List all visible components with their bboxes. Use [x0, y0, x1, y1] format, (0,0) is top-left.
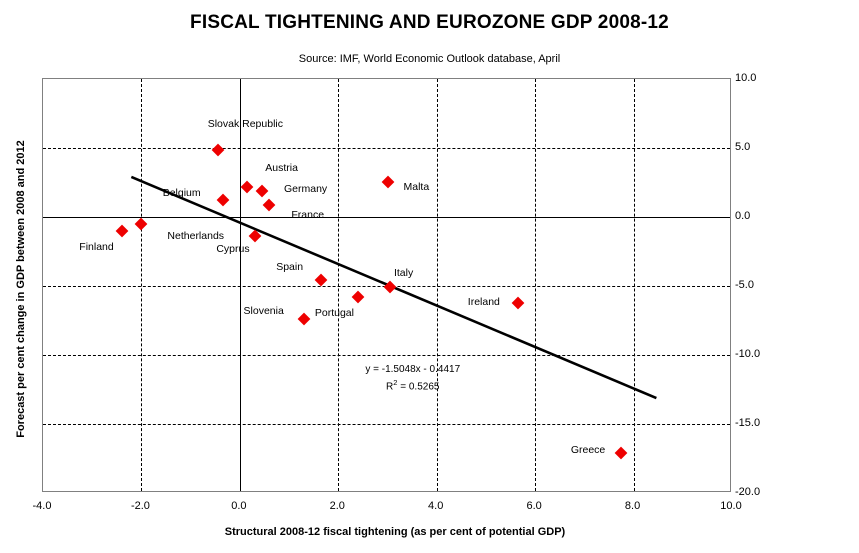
r-squared-value: = 0.5265: [397, 382, 439, 393]
y-axis-tick-label: 5.0: [735, 141, 750, 153]
chart-root: FISCAL TIGHTENING AND EUROZONE GDP 2008-…: [0, 0, 859, 553]
data-point-marker: [263, 199, 276, 212]
y-axis-tick-label: -15.0: [735, 417, 760, 429]
data-point-label: Spain: [276, 261, 303, 273]
data-point-marker: [248, 230, 261, 243]
data-point-label: Malta: [404, 181, 430, 193]
x-axis-tick-label: 10.0: [720, 500, 741, 512]
gridline-vertical: [338, 79, 339, 491]
data-point-label: Austria: [265, 162, 298, 174]
regression-equation-annotation: y = -1.5048x - 0.4417R2 = 0.5265: [365, 363, 460, 393]
data-point-label: Slovak Republic: [208, 118, 283, 130]
data-point-marker: [135, 218, 148, 231]
chart-source-note: Source: IMF, World Economic Outlook data…: [0, 53, 859, 65]
y-axis-tick-label: -10.0: [735, 348, 760, 360]
x-axis-title: Structural 2008-12 fiscal tightening (as…: [0, 526, 790, 538]
gridline-vertical: [535, 79, 536, 491]
data-point-marker: [352, 291, 365, 304]
data-point-marker: [615, 447, 628, 460]
y-axis-tick-label: 0.0: [735, 210, 750, 222]
data-point-marker: [384, 281, 397, 294]
r-squared-line: R2 = 0.5265: [365, 376, 460, 393]
data-point-marker: [256, 185, 269, 198]
data-point-label: Portugal: [315, 307, 354, 319]
x-axis-tick-label: -4.0: [33, 500, 52, 512]
data-point-label: Italy: [394, 267, 413, 279]
data-point-label: Ireland: [468, 296, 500, 308]
gridline-vertical: [141, 79, 142, 491]
data-point-marker: [211, 144, 224, 157]
plot-area: Slovak RepublicAustriaGermanyBelgiumFran…: [42, 78, 731, 492]
y-axis-tick-label: -20.0: [735, 486, 760, 498]
data-point-marker: [115, 224, 128, 237]
gridline-vertical: [634, 79, 635, 491]
data-point-label: Netherlands: [167, 230, 224, 242]
data-point-label: Finland: [79, 241, 113, 253]
x-axis-tick-label: 4.0: [428, 500, 443, 512]
data-point-marker: [512, 296, 525, 309]
data-point-marker: [315, 274, 328, 287]
y-axis-tick-label: 10.0: [735, 72, 756, 84]
x-axis-tick-label: 2.0: [330, 500, 345, 512]
data-point-marker: [216, 194, 229, 207]
x-axis-tick-label: -2.0: [131, 500, 150, 512]
y-axis-tick-label: -5.0: [735, 279, 754, 291]
data-point-label: Slovenia: [244, 305, 284, 317]
data-point-marker: [297, 313, 310, 326]
gridline-horizontal: [43, 424, 730, 425]
data-point-label: Germany: [284, 183, 327, 195]
x-axis-tick-label: 6.0: [526, 500, 541, 512]
x-zero-axis-line: [240, 79, 241, 491]
data-point-marker: [381, 175, 394, 188]
regression-equation-line: y = -1.5048x - 0.4417: [365, 363, 460, 376]
data-point-label: Cyprus: [216, 243, 249, 255]
data-point-label: Belgium: [163, 187, 201, 199]
x-axis-tick-label: 0.0: [231, 500, 246, 512]
x-axis-tick-label: 8.0: [625, 500, 640, 512]
data-point-label: France: [291, 209, 324, 221]
page-title: FISCAL TIGHTENING AND EUROZONE GDP 2008-…: [0, 12, 859, 34]
y-axis-title: Forecast per cent change in GDP between …: [15, 134, 27, 444]
gridline-horizontal: [43, 148, 730, 149]
plot-inner: Slovak RepublicAustriaGermanyBelgiumFran…: [43, 79, 730, 491]
gridline-horizontal: [43, 355, 730, 356]
gridline-vertical: [437, 79, 438, 491]
data-point-marker: [241, 180, 254, 193]
y-zero-axis-line: [43, 217, 730, 218]
data-point-label: Greece: [571, 444, 605, 456]
